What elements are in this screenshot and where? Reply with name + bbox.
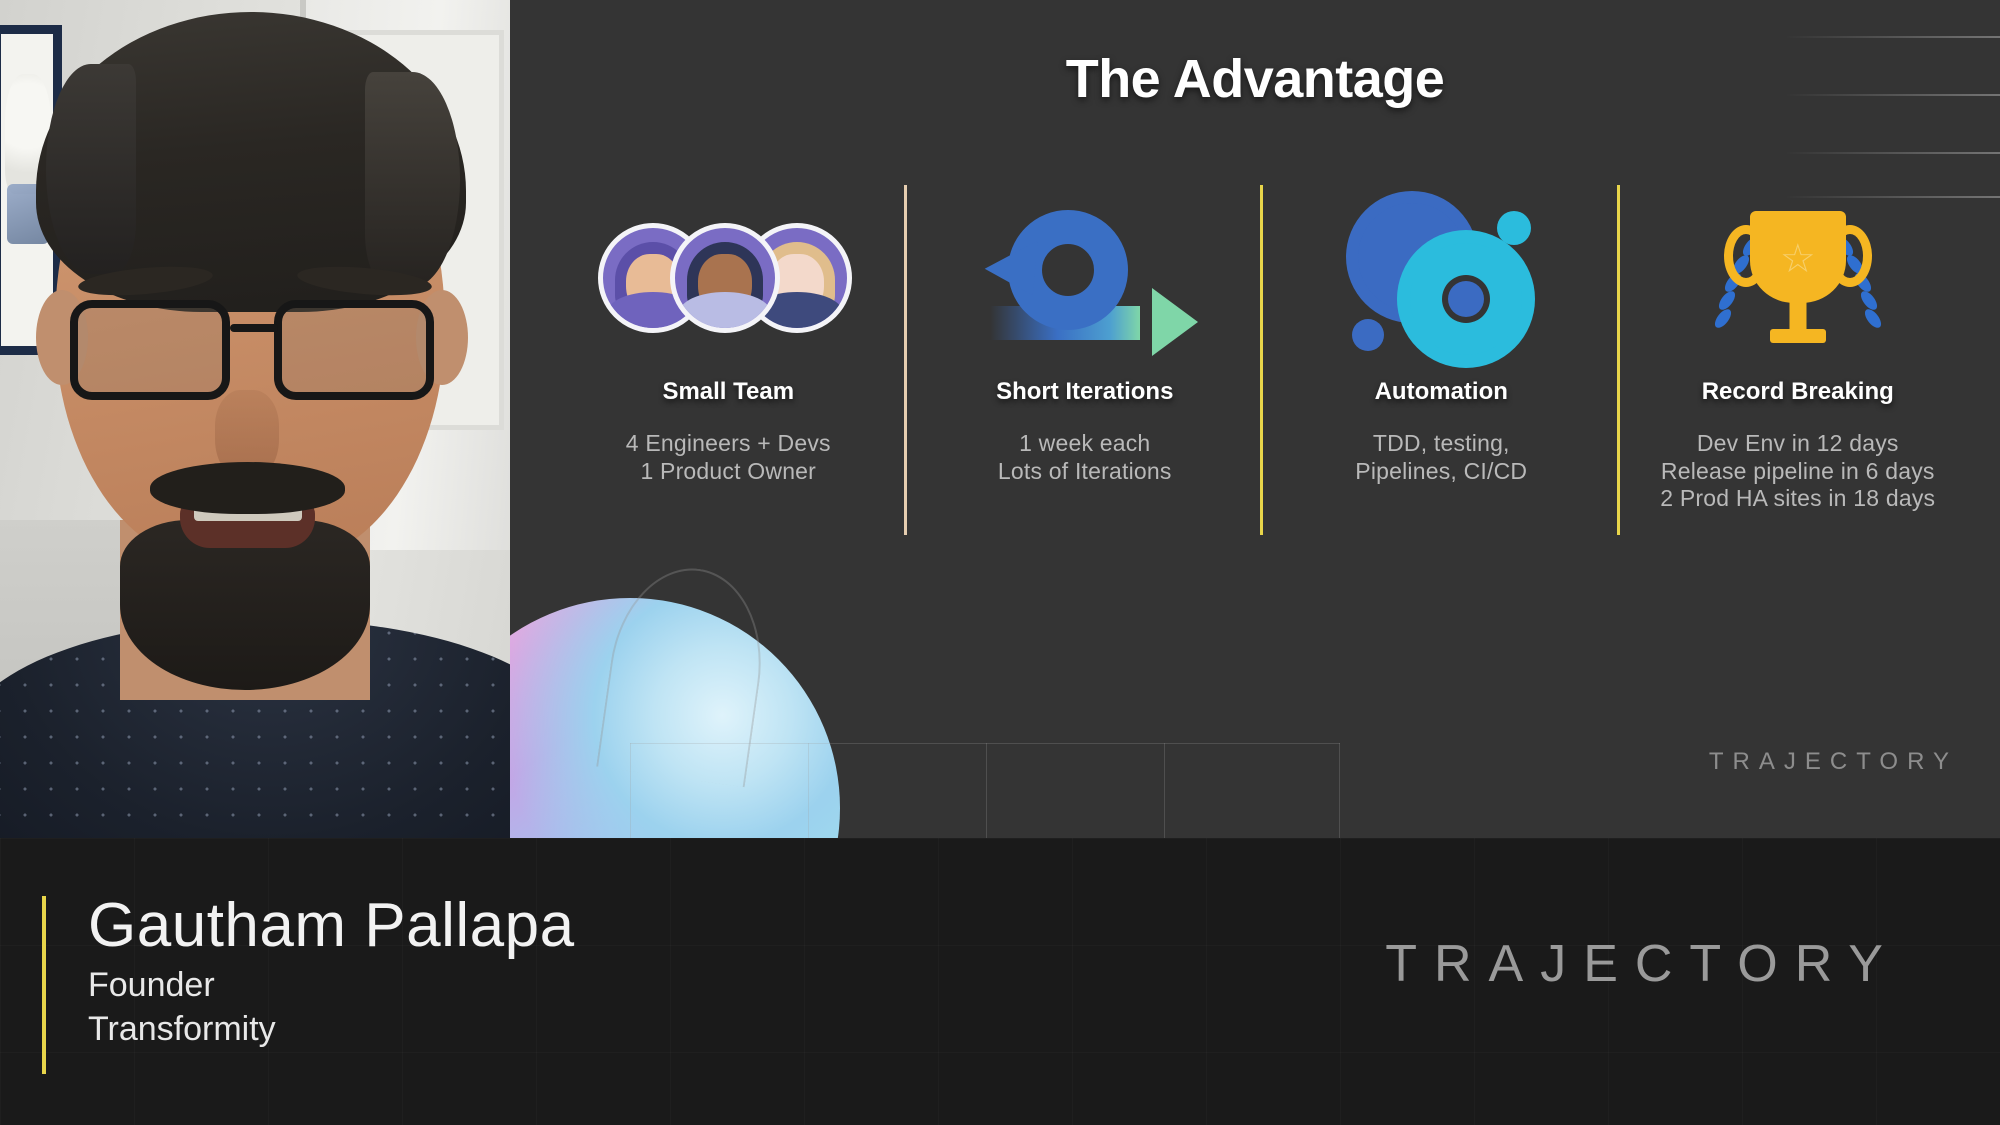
gear-center-hole xyxy=(1442,275,1490,323)
glasses-lens-left xyxy=(70,300,230,400)
speaker-name: Gautham Pallapa xyxy=(88,890,575,961)
column-detail: TDD, testing, Pipelines, CI/CD xyxy=(1273,430,1610,485)
column-detail: 4 Engineers + Devs 1 Product Owner xyxy=(560,430,897,485)
gear-dot-top xyxy=(1497,211,1531,245)
column-title: Small Team xyxy=(560,378,897,406)
detail-line: 1 Product Owner xyxy=(560,458,897,486)
decorative-grid-boxes xyxy=(630,743,1340,838)
column-title: Short Iterations xyxy=(917,378,1254,406)
trophy-cup: ☆ xyxy=(1750,211,1846,303)
trophy-stem xyxy=(1789,299,1806,331)
brand-logo: TRAJECTORY xyxy=(1385,934,1900,994)
glasses-lens-right xyxy=(274,300,434,400)
iteration-loop-arrow-icon xyxy=(917,185,1254,370)
avatar-2-body xyxy=(679,292,771,333)
avatar-2 xyxy=(670,223,780,333)
slide-title: The Advantage xyxy=(510,48,2000,110)
gear-front xyxy=(1410,243,1522,355)
speaker-moustache xyxy=(150,462,345,514)
gears-automation-icon xyxy=(1273,185,1610,370)
broadcast-stage: The Advantage xyxy=(0,0,2000,1125)
detail-line: 1 week each xyxy=(917,430,1254,458)
column-short-iterations: Short Iterations 1 week each Lots of Ite… xyxy=(907,185,1264,513)
column-detail: 1 week each Lots of Iterations xyxy=(917,430,1254,485)
lower-third-banner: Gautham Pallapa Founder Transformity TRA… xyxy=(0,838,2000,1125)
detail-line: 2 Prod HA sites in 18 days xyxy=(1630,485,1967,513)
presentation-slide[interactable]: The Advantage xyxy=(510,0,2000,838)
slide-watermark-logo: TRAJECTORY xyxy=(1709,748,1958,776)
glasses-bridge xyxy=(230,324,278,332)
column-record-breaking: ☆ Record Breaking Dev Env in 12 days Rel… xyxy=(1620,185,1977,513)
detail-line: Release pipeline in 6 days xyxy=(1630,458,1967,486)
detail-line: Dev Env in 12 days xyxy=(1630,430,1967,458)
column-automation: Automation TDD, testing, Pipelines, CI/C… xyxy=(1263,185,1620,513)
column-title: Record Breaking xyxy=(1630,378,1967,406)
trophy-award-icon: ☆ xyxy=(1630,185,1967,370)
column-small-team: Small Team 4 Engineers + Devs 1 Product … xyxy=(550,185,907,513)
gear-dot-bottom xyxy=(1352,319,1384,351)
trophy-base xyxy=(1770,329,1826,343)
speaker-organization: Transformity xyxy=(88,1010,276,1049)
detail-line: 4 Engineers + Devs xyxy=(560,430,897,458)
detail-line: TDD, testing, xyxy=(1273,430,1610,458)
detail-line: Lots of Iterations xyxy=(917,458,1254,486)
loop-arrow-right xyxy=(1152,288,1198,356)
banner-accent-bar xyxy=(42,896,46,1074)
speaker-role: Founder xyxy=(88,966,215,1005)
detail-line: Pipelines, CI/CD xyxy=(1273,458,1610,486)
column-detail: Dev Env in 12 days Release pipeline in 6… xyxy=(1630,430,1967,513)
speaker-video-feed[interactable] xyxy=(0,0,510,838)
column-title: Automation xyxy=(1273,378,1610,406)
trophy-star-icon: ☆ xyxy=(1780,239,1816,279)
advantage-columns: Small Team 4 Engineers + Devs 1 Product … xyxy=(550,185,1976,513)
three-people-avatars-icon xyxy=(560,185,897,370)
